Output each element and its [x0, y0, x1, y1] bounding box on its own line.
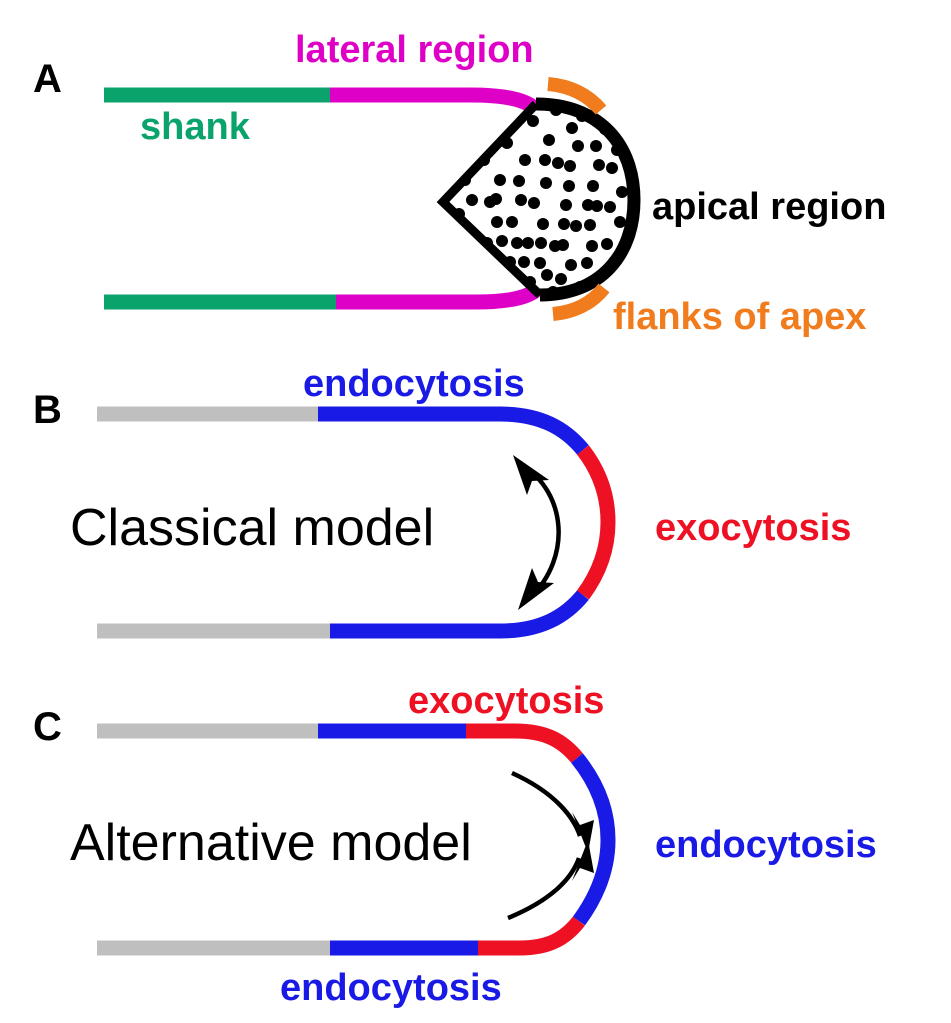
panel-c-upper-arrow-line — [512, 773, 580, 836]
panel-c-upper-exocytosis-segment — [466, 731, 577, 758]
flanks-of-apex-label: flanks of apex — [613, 296, 866, 338]
panel-a-lower-lateral-segment — [336, 290, 536, 302]
panel-c-lower-exocytosis-segment — [478, 921, 579, 948]
lateral-region-label: lateral region — [295, 29, 534, 71]
panel-c-exocytosis-label-top: exocytosis — [408, 680, 604, 722]
figure-canvas: A lateral region shank apical region fla… — [0, 0, 951, 1023]
shank-label: shank — [140, 106, 251, 148]
panel-b-model-name: Classical model — [70, 499, 434, 557]
panel-c-endocytosis-label-right: endocytosis — [655, 824, 877, 866]
panel-c-model-name: Alternative model — [70, 814, 472, 872]
panel-b-letter: B — [33, 388, 62, 432]
panel-a-group: A lateral region shank apical region fla… — [33, 29, 886, 338]
panel-c-tip-endocytosis-segment — [577, 758, 608, 921]
panel-b-exocytosis-segment — [583, 450, 608, 595]
panel-b-upper-endocytosis-segment — [318, 414, 583, 450]
panel-a-letter: A — [33, 57, 62, 101]
figure-svg: A lateral region shank apical region fla… — [0, 0, 951, 1023]
panel-c-group: C exocytosis endocytosis endocytosis Alt… — [33, 680, 877, 1009]
panel-b-exocytosis-label-right: exocytosis — [655, 507, 851, 549]
panel-c-upper-arrowhead — [572, 812, 594, 853]
panel-c-letter: C — [33, 705, 62, 749]
apical-region-label: apical region — [652, 186, 886, 228]
panel-c-endocytosis-label-bottom: endocytosis — [280, 967, 502, 1009]
panel-b-endocytosis-label-top: endocytosis — [303, 363, 525, 405]
panel-c-lower-arrow-line — [508, 858, 579, 918]
panel-c-lower-arrowhead — [572, 840, 594, 881]
panel-b-group: B endocytosis exocytosis Classical model — [33, 363, 851, 631]
panel-a-upper-lateral-segment — [330, 95, 534, 108]
panel-b-lower-endocytosis-segment — [330, 595, 583, 631]
